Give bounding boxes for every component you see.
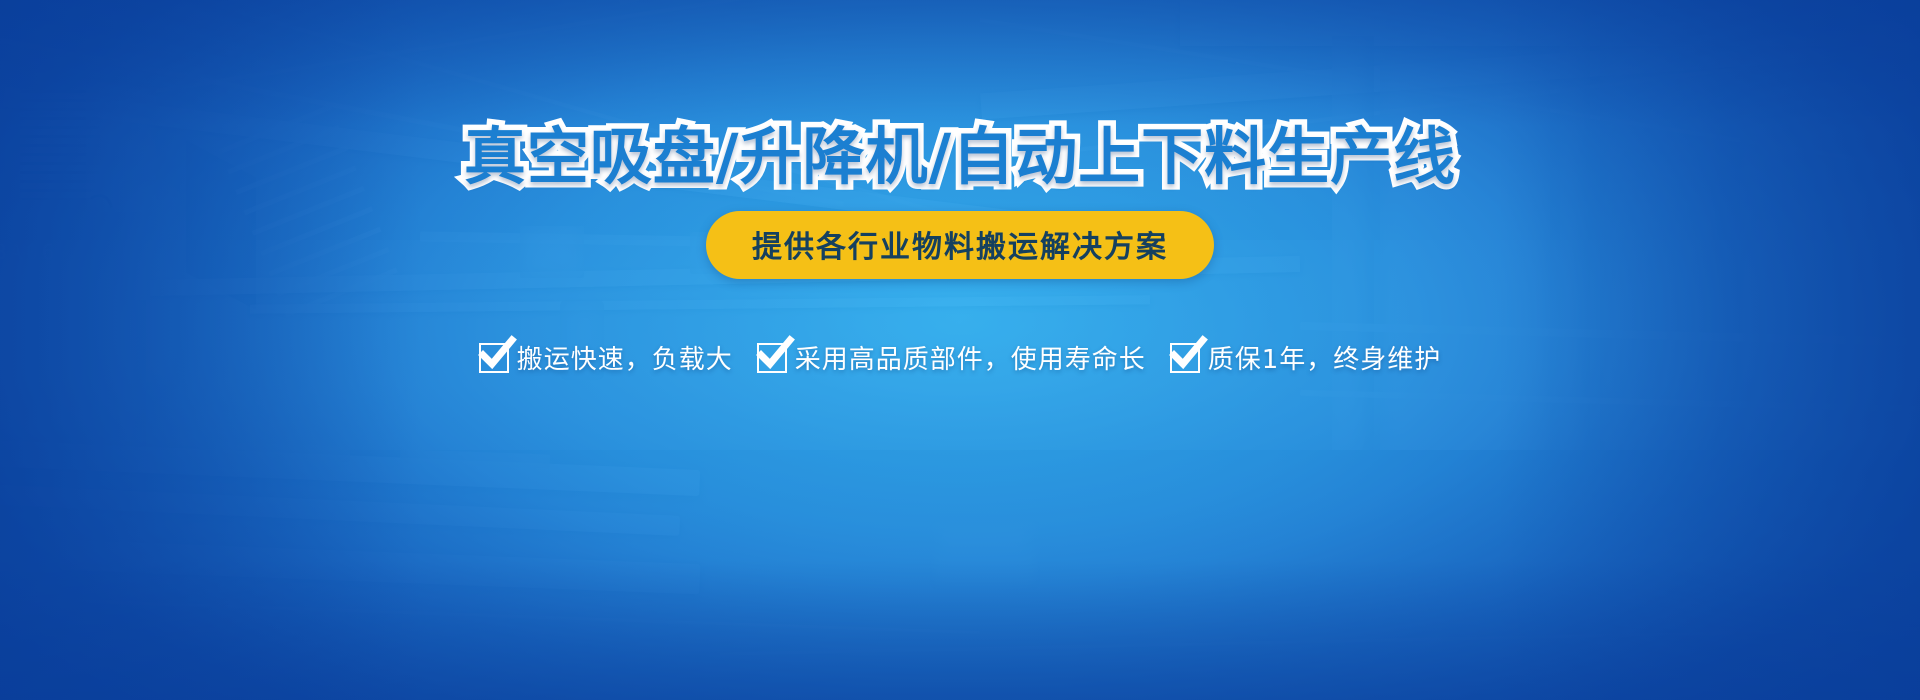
feature-item: 质保1年，终身维护 — [1170, 339, 1442, 376]
feature-item: 采用高品质部件，使用寿命长 — [757, 339, 1146, 376]
feature-item: 搬运快速，负载大 — [479, 339, 733, 376]
checkbox-checked-icon — [479, 343, 509, 373]
promo-banner: BA06 真空吸盘/升降机/自动上下料生产线 — [0, 0, 1920, 700]
page-title: 真空吸盘/升降机/自动上下料生产线 — [464, 124, 1456, 189]
checkbox-checked-icon — [1170, 343, 1200, 373]
feature-list: 搬运快速，负载大 采用高品质部件，使用寿命长 质保1年，终身维护 — [479, 339, 1442, 376]
feature-label: 质保1年，终身维护 — [1208, 339, 1442, 376]
banner-content: 真空吸盘/升降机/自动上下料生产线 提供各行业物料搬运解决方案 搬运快速，负载大… — [0, 0, 1920, 700]
checkbox-checked-icon — [757, 343, 787, 373]
feature-label: 采用高品质部件，使用寿命长 — [795, 339, 1146, 376]
subtitle-badge: 提供各行业物料搬运解决方案 — [706, 211, 1214, 279]
feature-label: 搬运快速，负载大 — [517, 339, 733, 376]
